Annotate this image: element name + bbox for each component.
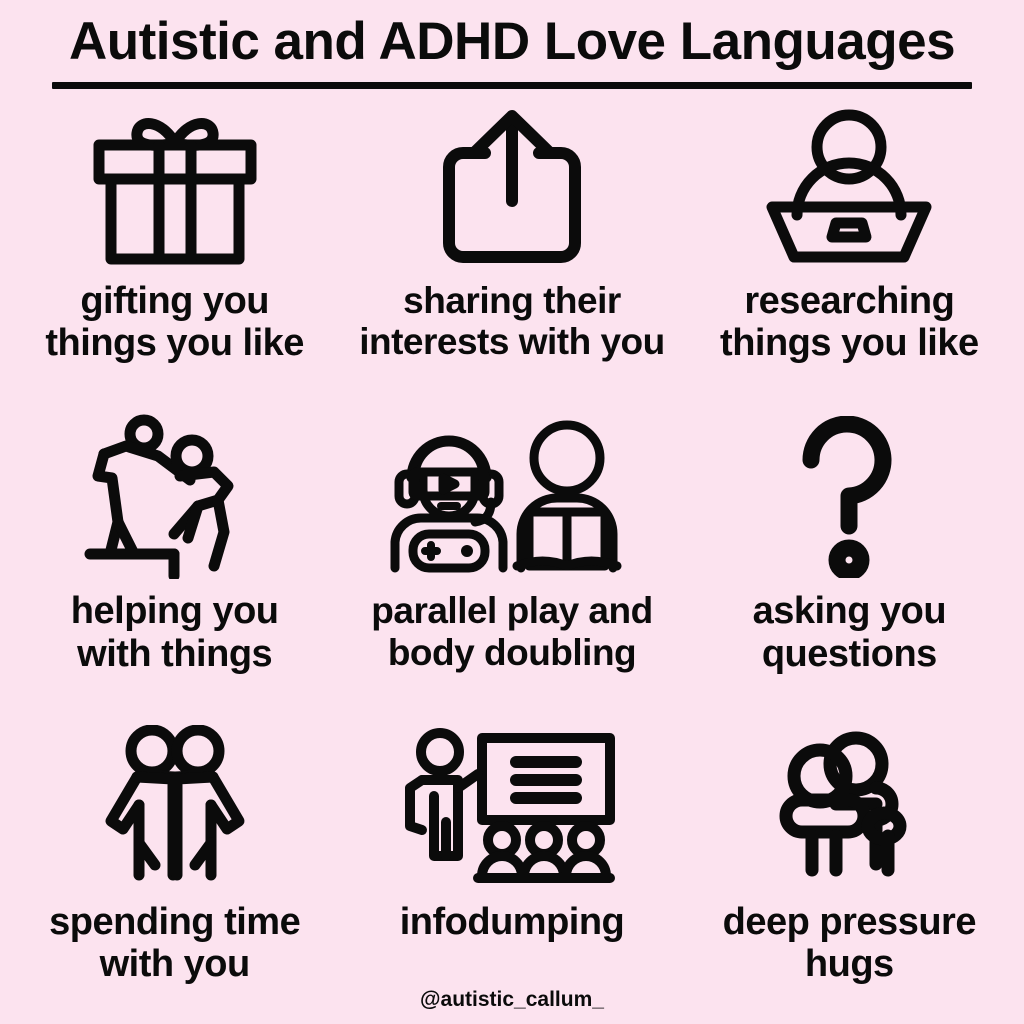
share-arrow-icon	[437, 99, 587, 274]
grid-item-infodumping: infodumping	[343, 714, 680, 1024]
grid-item-label: deep pressurehugs	[723, 901, 976, 986]
author-handle: @autistic_callum_	[0, 988, 1024, 1012]
infographic-canvas: Autistic and ADHD Love Languages	[0, 0, 1024, 1024]
gift-box-icon	[91, 99, 259, 274]
person-at-laptop-icon	[764, 99, 934, 274]
grid-item-label: researchingthings you like	[720, 280, 979, 365]
grid-item-label: asking youquestions	[753, 590, 947, 675]
person-helping-up-icon	[82, 409, 267, 584]
page-title: Autistic and ADHD Love Languages	[30, 14, 994, 70]
two-people-together-icon	[95, 720, 255, 895]
grid-item-label: sharing theirinterests with you	[359, 280, 665, 363]
hugging-people-icon	[772, 720, 927, 895]
grid-item-researching: researchingthings you like	[681, 93, 1018, 403]
grid-item-label: spending timewith you	[49, 901, 300, 986]
gamer-and-reader-icon	[387, 409, 637, 584]
title-underline-divider	[52, 82, 972, 89]
grid-item-label: parallel play andbody doubling	[371, 590, 652, 673]
grid-item-deep-pressure-hugs: deep pressurehugs	[681, 714, 1018, 1024]
grid-item-spending-time: spending timewith you	[6, 714, 343, 1024]
presenter-audience-icon	[404, 720, 619, 895]
grid-item-gifting: gifting youthings you like	[6, 93, 343, 403]
grid-item-label: helping youwith things	[71, 590, 279, 675]
grid-item-asking: asking youquestions	[681, 403, 1018, 713]
title-block: Autistic and ADHD Love Languages	[0, 0, 1024, 89]
love-languages-grid: gifting youthings you like sharing their…	[0, 89, 1024, 1024]
grid-item-parallel-play: parallel play andbody doubling	[343, 403, 680, 713]
grid-item-label: gifting youthings you like	[45, 280, 304, 365]
grid-item-helping: helping youwith things	[6, 403, 343, 713]
grid-item-label: infodumping	[400, 901, 625, 944]
question-mark-icon	[789, 409, 909, 584]
grid-item-sharing: sharing theirinterests with you	[343, 93, 680, 403]
